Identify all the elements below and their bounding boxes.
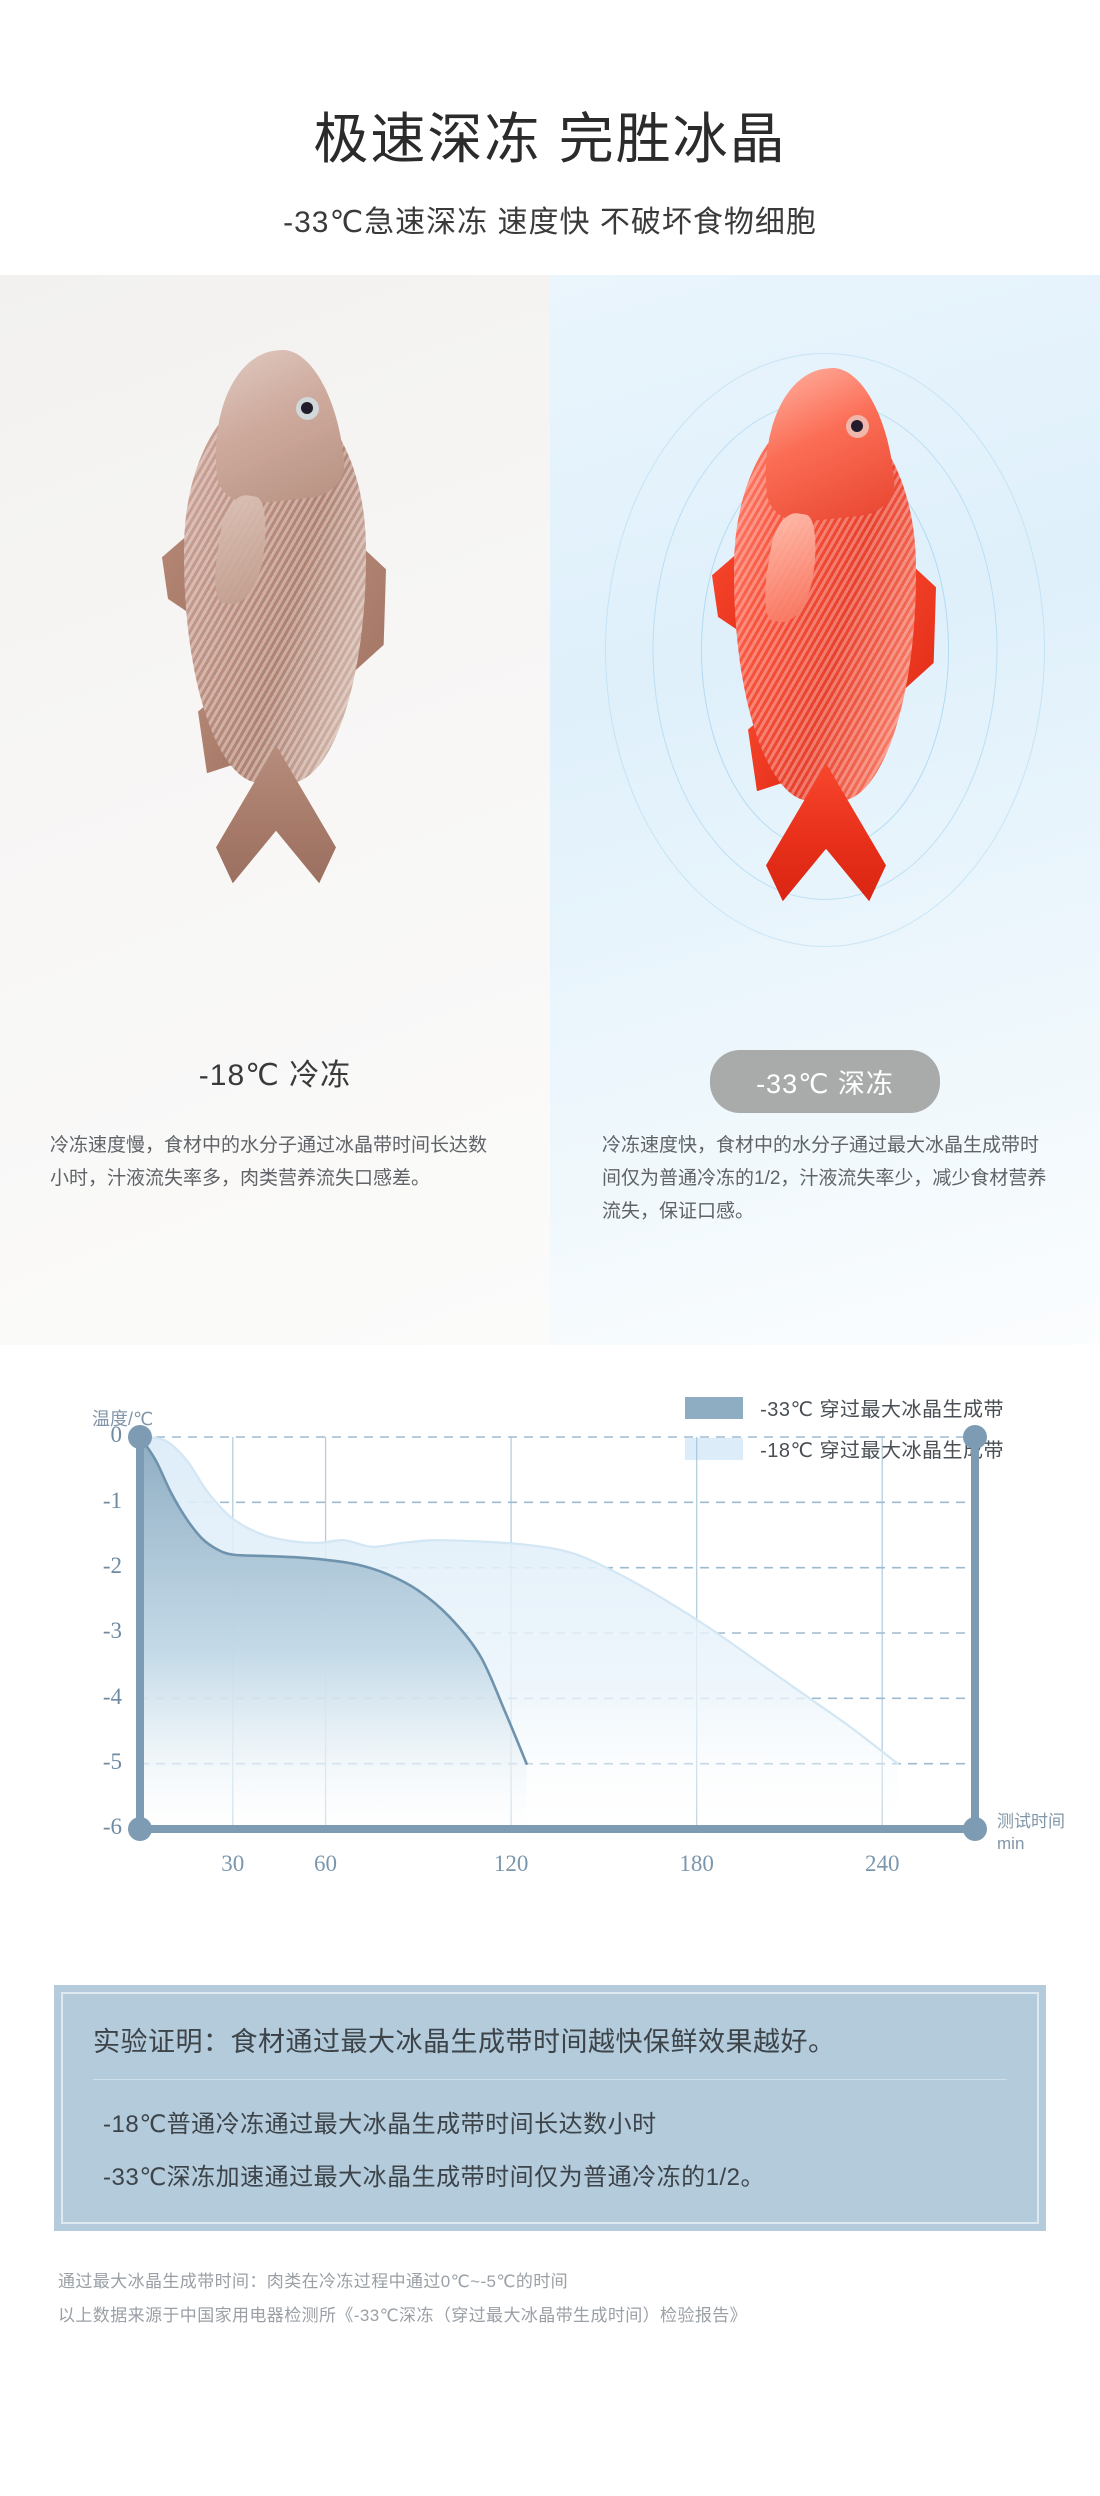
- temperature-badge-minus33: -33℃ 深冻: [710, 1050, 940, 1113]
- y-axis-tick-minus2: -2: [78, 1553, 122, 1579]
- footnote-definition: 通过最大冰晶生成带时间：肉类在冷冻过程中通过0℃~-5℃的时间: [58, 2265, 1100, 2299]
- chart-section: -33℃ 穿过最大冰晶生成带 -18℃ 穿过最大冰晶生成带 温度/℃ 测试时间 …: [0, 1345, 1100, 1959]
- conclusion-box: 实验证明：食材通过最大冰晶生成带时间越快保鲜效果越好。 -18℃普通冷冻通过最大…: [54, 1985, 1046, 2231]
- y-axis-tick-minus1: -1: [78, 1488, 122, 1514]
- conclusion-inner: 实验证明：食材通过最大冰晶生成带时间越快保鲜效果越好。 -18℃普通冷冻通过最大…: [61, 1992, 1039, 2224]
- fish-head: [205, 345, 348, 508]
- y-axis-tick-minus6: -6: [78, 1814, 122, 1840]
- x-axis-tick-120: 120: [476, 1851, 546, 1877]
- compare-pane-deep-freeze: -33℃ 深冻 冷冻速度快，食材中的水分子通过最大冰晶生成带时间仅为普通冷冻的1…: [550, 275, 1100, 1345]
- temperature-label-minus18: -18℃ 冷冻: [199, 1059, 351, 1092]
- x-axis-tick-30: 30: [198, 1851, 268, 1877]
- fish-image-frozen-container: [0, 275, 550, 1065]
- y-axis-tick-minus4: -4: [78, 1684, 122, 1710]
- fish-head: [755, 363, 898, 526]
- conclusion-line-minus33: -33℃深冻加速通过最大冰晶生成带时间仅为普通冷冻的1/2。: [93, 2157, 1007, 2192]
- compare-label-row-left: -18℃ 冷冻: [0, 1050, 550, 1094]
- x-axis-tick-240: 240: [847, 1851, 917, 1877]
- fish-image-fresh-container: [550, 275, 1100, 1065]
- fish-eye: [846, 415, 869, 438]
- fish-eye: [296, 397, 319, 420]
- x-axis-tick-180: 180: [662, 1851, 732, 1877]
- compare-label-row-right: -33℃ 深冻: [550, 1050, 1100, 1113]
- page-title: 极速深冻 完胜冰晶: [0, 108, 1100, 171]
- fish-icon-dull: [160, 345, 390, 885]
- chart-plot-area: 温度/℃ 测试时间 min 0-1-2-3-4-5-63060120180240: [0, 1399, 1100, 1959]
- fish-icon-vivid: [710, 363, 940, 903]
- page-subtitle: -33℃急速深冻 速度快 不破坏食物细胞: [0, 197, 1100, 241]
- compare-description-left: 冷冻速度慢，食材中的水分子通过冰晶带时间长达数小时，汁液流失率多，肉类营养流失口…: [0, 1130, 550, 1195]
- y-axis-tick-0: 0: [78, 1422, 122, 1448]
- bottom-spacer: [0, 2333, 1100, 2393]
- hero-section: 极速深冻 完胜冰晶 -33℃急速深冻 速度快 不破坏食物细胞: [0, 0, 1100, 241]
- footnote-section: 通过最大冰晶生成带时间：肉类在冷冻过程中通过0℃~-5℃的时间 以上数据来源于中…: [58, 2265, 1100, 2333]
- compare-description-right: 冷冻速度快，食材中的水分子通过最大冰晶生成带时间仅为普通冷冻的1/2，汁液流失率…: [550, 1130, 1100, 1228]
- conclusion-line-minus18: -18℃普通冷冻通过最大冰晶生成带时间长达数小时: [93, 2104, 1007, 2139]
- comparison-section: -18℃ 冷冻 冷冻速度慢，食材中的水分子通过冰晶带时间长达数小时，汁液流失率多…: [0, 275, 1100, 1345]
- conclusion-headline: 实验证明：食材通过最大冰晶生成带时间越快保鲜效果越好。: [93, 2020, 1007, 2080]
- x-axis-tick-60: 60: [291, 1851, 361, 1877]
- y-axis-tick-minus3: -3: [78, 1618, 122, 1644]
- compare-pane-normal-freeze: -18℃ 冷冻 冷冻速度慢，食材中的水分子通过冰晶带时间长达数小时，汁液流失率多…: [0, 275, 550, 1345]
- y-axis-tick-minus5: -5: [78, 1749, 122, 1775]
- product-detail-page: 极速深冻 完胜冰晶 -33℃急速深冻 速度快 不破坏食物细胞 -18℃ 冷冻: [0, 0, 1100, 2393]
- temperature-curve-chart: [0, 1399, 1100, 1959]
- footnote-source: 以上数据来源于中国家用电器检测所《-33℃深冻（穿过最大冰晶带生成时间）检验报告…: [58, 2299, 1100, 2333]
